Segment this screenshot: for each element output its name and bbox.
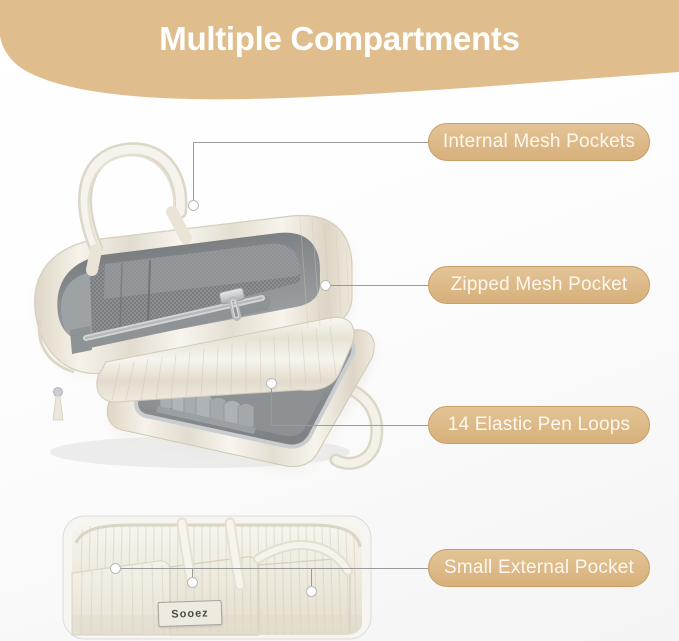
leader-line-vertical-internal-mesh-pockets bbox=[193, 142, 194, 206]
leader-line-horizontal-zipped-mesh-pocket bbox=[325, 285, 428, 286]
marker-dot-elastic-pen-loops bbox=[266, 378, 277, 389]
marker-dot-small-external-pocket-left bbox=[110, 563, 121, 574]
leader-line-horizontal-internal-mesh-pockets bbox=[193, 142, 428, 143]
marker-dot-small-external-pocket-mid bbox=[187, 577, 198, 588]
callout-label-internal-mesh-pockets: Internal Mesh Pockets bbox=[443, 131, 635, 153]
callout-small-external-pocket[interactable]: Small External Pocket bbox=[428, 549, 650, 587]
callout-label-elastic-pen-loops: 14 Elastic Pen Loops bbox=[448, 414, 631, 436]
callout-internal-mesh-pockets[interactable]: Internal Mesh Pockets bbox=[428, 123, 650, 161]
open-case-illustration bbox=[0, 100, 400, 480]
callout-label-small-external-pocket: Small External Pocket bbox=[444, 557, 634, 579]
marker-dot-internal-mesh-pockets bbox=[188, 200, 199, 211]
leader-line-horizontal-small-external-pocket bbox=[115, 568, 428, 569]
marker-dot-small-external-pocket-right bbox=[306, 586, 317, 597]
product-photo-open-case bbox=[0, 100, 400, 480]
brand-label-patch: Sooez bbox=[158, 600, 223, 627]
callout-zipped-mesh-pocket[interactable]: Zipped Mesh Pocket bbox=[428, 266, 650, 304]
infographic-page: Sooez Multiple Compartments Internal Mes… bbox=[0, 0, 679, 641]
leader-line-horizontal-elastic-pen-loops bbox=[271, 425, 428, 426]
callout-elastic-pen-loops[interactable]: 14 Elastic Pen Loops bbox=[428, 406, 650, 444]
callout-label-zipped-mesh-pocket: Zipped Mesh Pocket bbox=[451, 274, 628, 296]
brand-label-text: Sooez bbox=[171, 607, 209, 620]
page-title: Multiple Compartments bbox=[0, 20, 679, 58]
leader-line-vertical-elastic-pen-loops bbox=[271, 383, 272, 425]
marker-dot-zipped-mesh-pocket bbox=[320, 280, 331, 291]
